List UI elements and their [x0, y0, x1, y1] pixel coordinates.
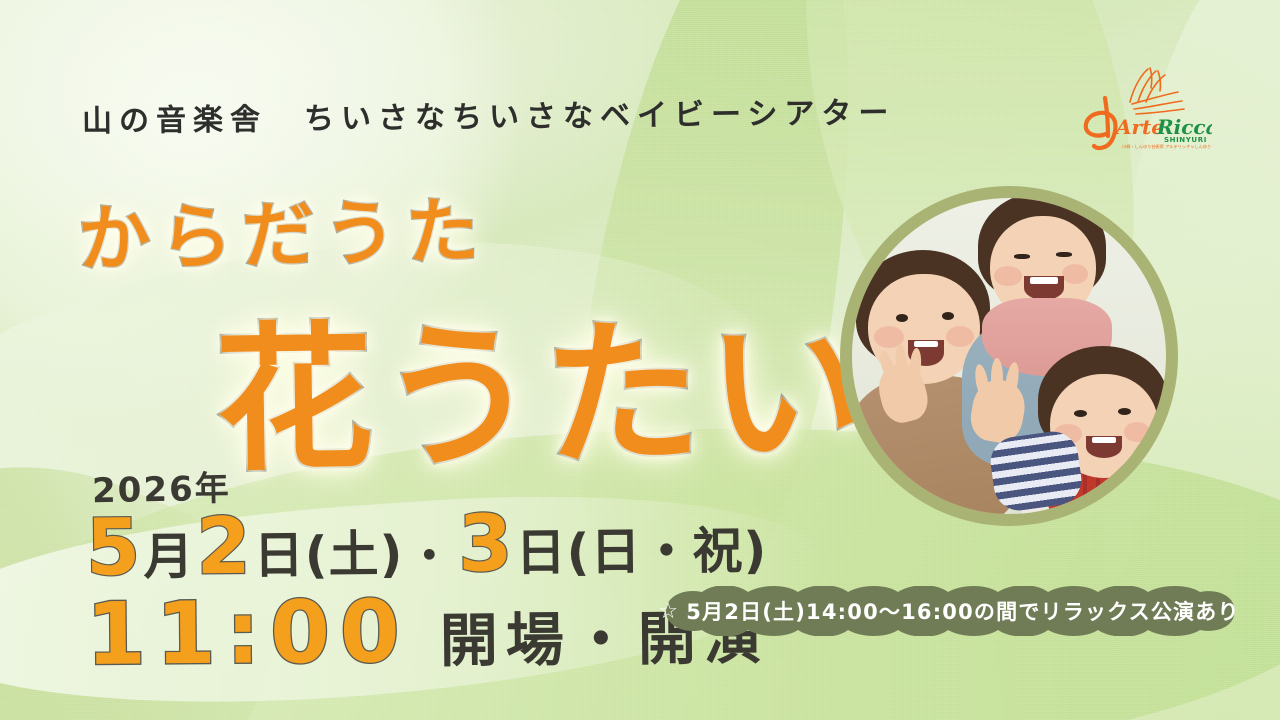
relax-banner-text-wrap: ☆ 5月2日(土)14:00〜16:00の間でリラックス公演あり — [640, 586, 1258, 636]
baby-left-eye-r — [942, 312, 954, 320]
date-day2-weekday: (日・祝) — [566, 510, 767, 584]
time-clock: 11:00 — [86, 582, 411, 685]
date-day1-number: 2 — [196, 502, 252, 593]
date-separator: ・ — [403, 520, 457, 585]
date-day1-kanji: 日 — [253, 515, 305, 588]
logo-caption: 川崎・しんゆり芸術祭 アルテリッチャしんゆり — [1122, 143, 1211, 150]
baby-left-eye-l — [896, 314, 908, 322]
baby-center-teeth — [1030, 277, 1058, 284]
date-day2-number: 3 — [458, 499, 514, 590]
baby-center-eye-r — [1056, 252, 1072, 257]
baby-right-eye-r — [1118, 408, 1131, 415]
relax-performance-banner: ☆ 5月2日(土)14:00〜16:00の間でリラックス公演あり — [640, 586, 1258, 636]
baby-center-cheek-l — [994, 266, 1022, 286]
date-month-number: 5 — [86, 503, 142, 594]
relax-banner-text: 5月2日(土)14:00〜16:00の間でリラックス公演あり — [686, 596, 1239, 626]
baby-center-finger-2 — [991, 358, 1003, 398]
date-day1-weekday: (土) — [304, 514, 403, 587]
logo-artwork: Arte Ricca SHINYURI 川崎・しんゆり芸術祭 アルテリッチャしん… — [1072, 62, 1212, 152]
header-series-line: 山の音楽舎 ちいさなちいさなベイビーシアター — [82, 88, 896, 141]
baby-center-eye-l — [1014, 254, 1030, 259]
logo-subtitle-shinyuri: SHINYURI — [1164, 136, 1207, 144]
poster-canvas: 山の音楽舎 ちいさなちいさなベイビーシアター からだうた 花うたい 2026年 … — [0, 0, 1280, 720]
date-month-kanji: 月 — [143, 516, 195, 589]
date-day2-kanji: 日 — [515, 513, 567, 586]
star-icon: ☆ — [658, 599, 679, 624]
arte-ricca-logo: Arte Ricca SHINYURI 川崎・しんゆり芸術祭 アルテリッチャしん… — [1072, 62, 1212, 152]
baby-left-cheek-r — [946, 326, 974, 347]
main-title-hanautai: 花うたい — [213, 263, 872, 501]
baby-left-teeth — [914, 341, 938, 347]
photo-babies — [852, 198, 1166, 514]
baby-center-cheek-r — [1062, 264, 1088, 284]
baby-right-eye-l — [1074, 410, 1087, 417]
photo-circle-frame — [840, 186, 1178, 526]
baby-right-teeth — [1092, 437, 1116, 443]
baby-right-cheek-r — [1124, 422, 1150, 442]
subtitle-karadauta: からだうた — [77, 172, 489, 286]
